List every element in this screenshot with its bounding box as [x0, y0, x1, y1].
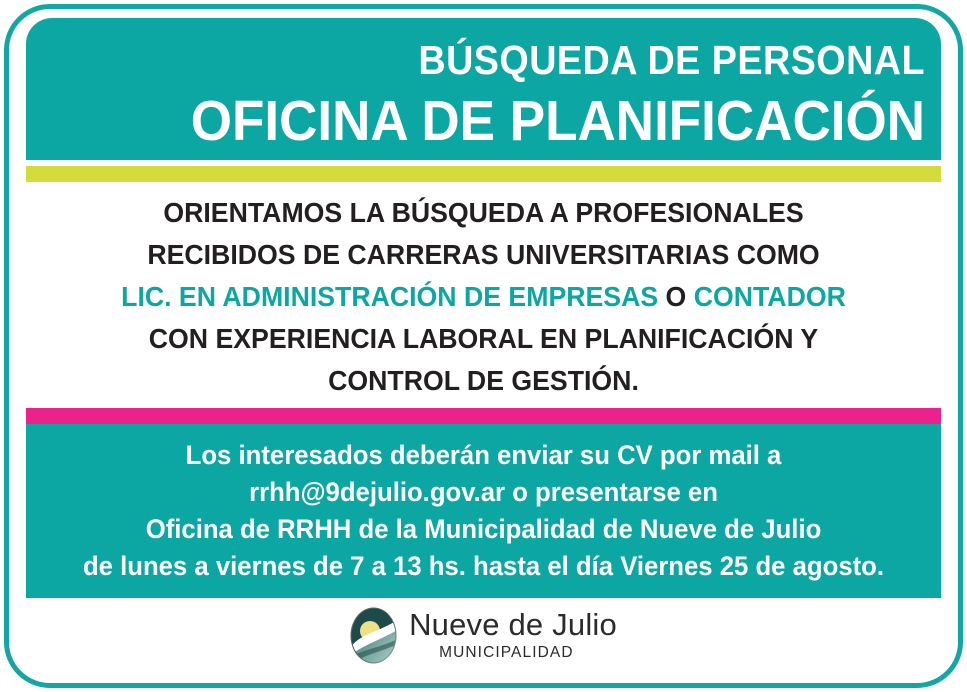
logo-title: Nueve de Julio [409, 609, 617, 640]
logo-text-group: Nueve de Julio MUNICIPALIDAD [409, 609, 617, 661]
accent-bar-yellow-green [26, 166, 941, 182]
contact-line-2: rrhh@9dejulio.gov.ar o presentarse en [40, 474, 928, 511]
divider-bar-pink [26, 408, 941, 424]
poster: BÚSQUEDA DE PERSONAL OFICINA DE PLANIFIC… [0, 0, 967, 692]
contact-line-1: Los interesados deberán enviar su CV por… [40, 437, 928, 474]
contact-line-4: de lunes a viernes de 7 a 13 hs. hasta e… [40, 548, 928, 585]
contact-section: Los interesados deberán enviar su CV por… [26, 424, 941, 598]
footer: Nueve de Julio MUNICIPALIDAD [26, 598, 941, 672]
header-title: OFICINA DE PLANIFICACIÓN [98, 93, 925, 150]
body-line-1: ORIENTAMOS LA BÚSQUEDA A PROFESIONALES [40, 192, 928, 234]
body-line-2: RECIBIDOS DE CARRERAS UNIVERSITARIAS COM… [40, 234, 928, 276]
municipality-logo-icon [350, 607, 397, 664]
header-text-group: BÚSQUEDA DE PERSONAL OFICINA DE PLANIFIC… [36, 18, 925, 150]
body-line-3-conjunction: O [658, 281, 694, 312]
body-line-3: LIC. EN ADMINISTRACIÓN DE EMPRESAS O CON… [40, 276, 928, 318]
header-subtitle: BÚSQUEDA DE PERSONAL [107, 40, 925, 81]
contact-line-3: Oficina de RRHH de la Municipalidad de N… [40, 511, 928, 548]
body-line-4: CON EXPERIENCIA LABORAL EN PLANIFICACIÓN… [40, 318, 928, 360]
header-banner: BÚSQUEDA DE PERSONAL OFICINA DE PLANIFIC… [26, 18, 941, 160]
body-line-5: CONTROL DE GESTIÓN. [40, 360, 928, 402]
logo-subtitle: MUNICIPALIDAD [439, 645, 574, 661]
body-section: ORIENTAMOS LA BÚSQUEDA A PROFESIONALES R… [26, 192, 941, 402]
body-line-3-highlight-2: CONTADOR [694, 281, 846, 312]
body-line-3-highlight-1: LIC. EN ADMINISTRACIÓN DE EMPRESAS [121, 281, 658, 312]
